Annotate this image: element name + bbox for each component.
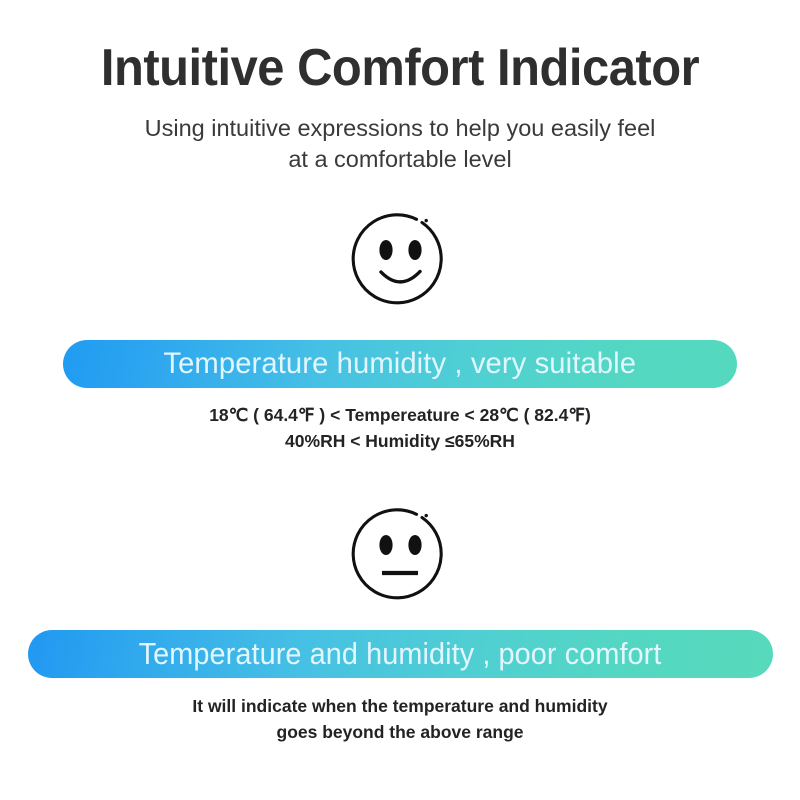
neutral-face-icon [354, 507, 446, 599]
page-title: Intuitive Comfort Indicator [24, 38, 776, 98]
status-banner-comfortable-label: Temperature humidity , very suitable [164, 347, 637, 381]
poor-comfort-detail: It will indicate when the temperature an… [0, 693, 800, 745]
status-banner-poor-comfort-label: Temperature and humidity , poor comfort [139, 636, 662, 672]
status-banner-poor-comfort: Temperature and humidity , poor comfort [28, 630, 773, 678]
status-banner-comfortable: Temperature humidity , very suitable [63, 340, 737, 388]
comfort-indicator-page: Intuitive Comfort Indicator Using intuit… [0, 0, 800, 800]
smiley-face-icon [354, 212, 446, 304]
comfortable-range-detail: 18℃ ( 64.4℉ ) < Tempereature < 28℃ ( 82.… [0, 402, 800, 454]
page-subtitle: Using intuitive expressions to help you … [0, 113, 800, 175]
